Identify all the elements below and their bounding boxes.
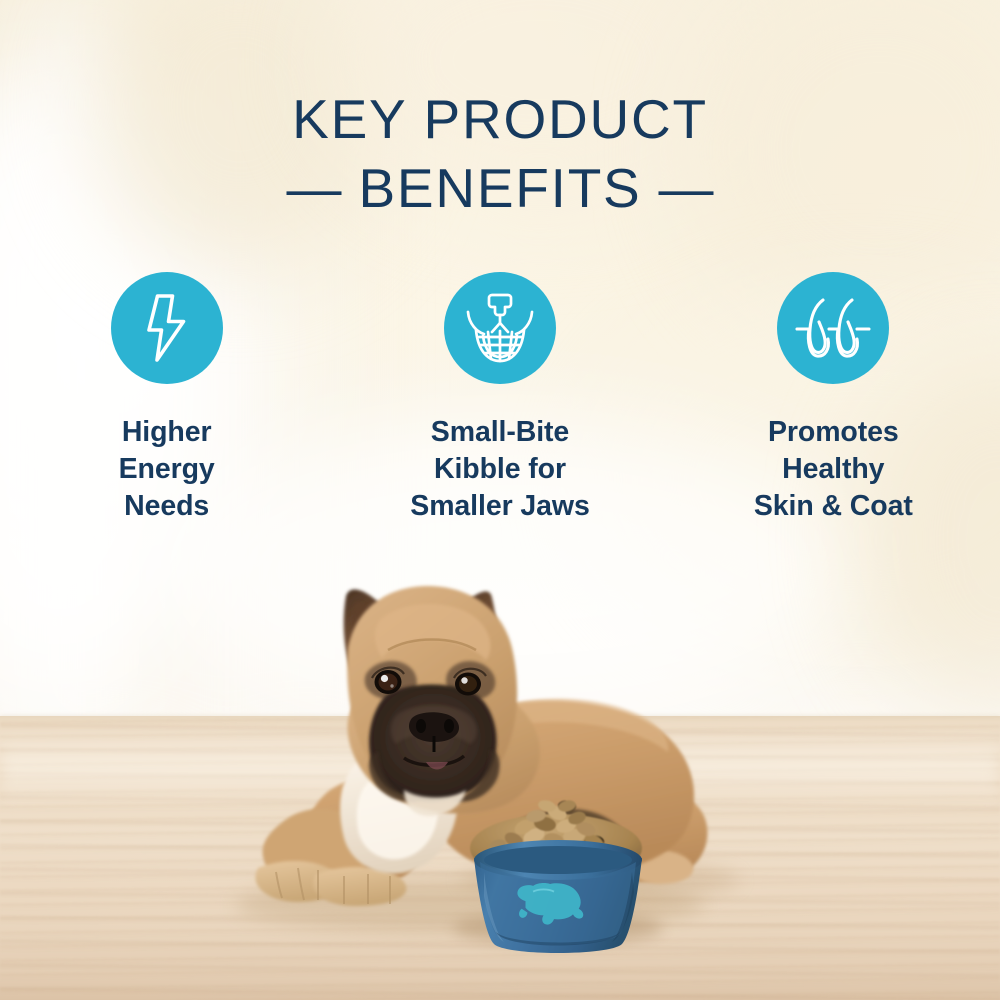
- title-dash-left-icon: —: [286, 157, 341, 219]
- benefits-row: Higher Energy Needs: [0, 272, 1000, 525]
- wood-highlight-band: [0, 734, 1000, 808]
- benefit-icon-circle: [444, 272, 556, 384]
- page-title: KEY PRODUCT — BENEFITS —: [0, 92, 1000, 216]
- benefit-icon-circle: [777, 272, 889, 384]
- benefit-icon-circle: [111, 272, 223, 384]
- product-benefits-graphic: KEY PRODUCT — BENEFITS — Higher Energy N…: [0, 0, 1000, 1000]
- page-title-line-1: KEY PRODUCT: [0, 92, 1000, 147]
- title-dash-right-icon: —: [659, 157, 714, 219]
- hair-follicle-icon: [795, 296, 871, 360]
- benefit-label: Higher Energy Needs: [119, 414, 215, 525]
- benefit-label: Promotes Healthy Skin & Coat: [754, 414, 913, 525]
- page-title-line-2: — BENEFITS —: [0, 161, 1000, 216]
- wood-table-surface: [0, 716, 1000, 1000]
- benefit-item-higher-energy-needs: Higher Energy Needs: [0, 272, 333, 525]
- lightning-bolt-icon: [136, 292, 198, 364]
- benefit-item-healthy-skin-coat: Promotes Healthy Skin & Coat: [667, 272, 1000, 525]
- benefit-label: Small-Bite Kibble for Smaller Jaws: [410, 414, 589, 525]
- page-title-line-2-text: BENEFITS: [358, 157, 641, 219]
- benefit-item-small-bite-kibble: Small-Bite Kibble for Smaller Jaws: [333, 272, 666, 525]
- jaw-teeth-icon: [461, 291, 539, 365]
